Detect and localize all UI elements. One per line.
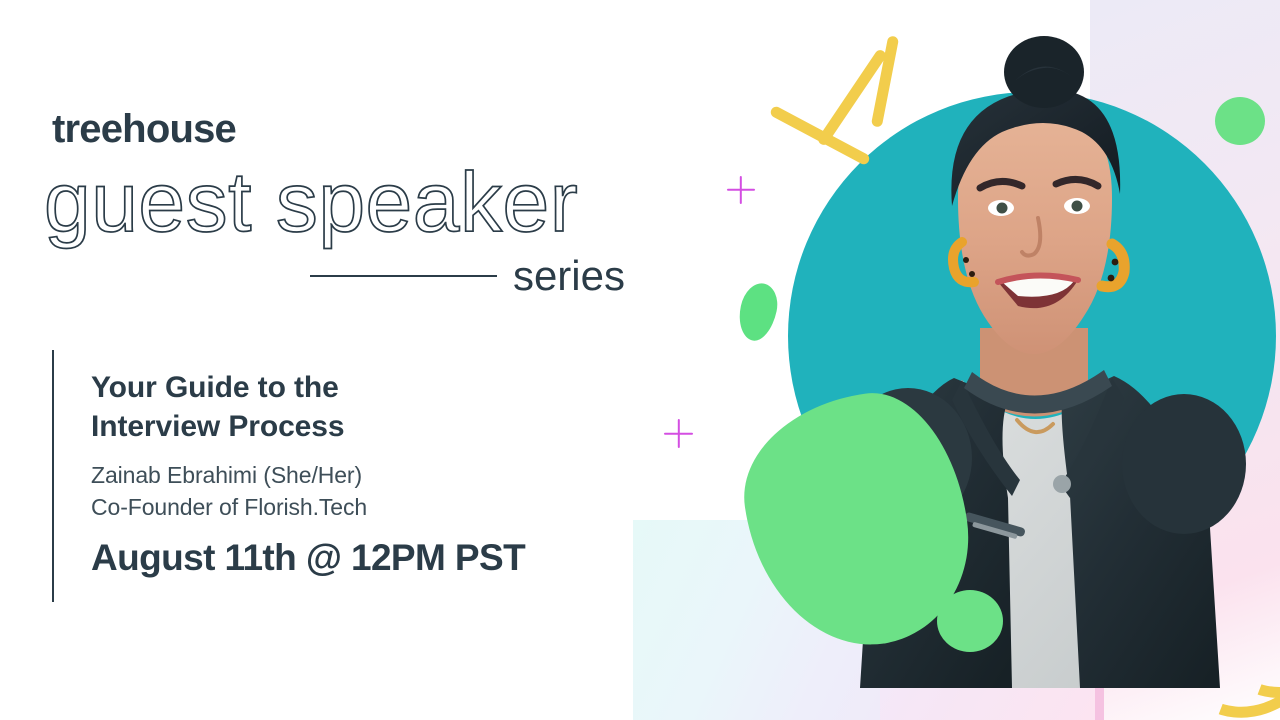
speaker-name: Zainab Ebrahimi (She/Her): [91, 460, 651, 492]
treehouse-wordmark: treehouse: [52, 109, 236, 149]
promo-slide: treehouse guest speaker series Your Guid…: [0, 0, 1280, 720]
green-dot-bottom-shape: [937, 590, 1003, 652]
headline-guest-speaker: guest speaker: [44, 158, 578, 246]
series-row: series: [310, 255, 625, 297]
series-label: series: [513, 255, 625, 297]
event-info-block: Your Guide to the Interview Process Zain…: [91, 368, 651, 579]
plus-mark-icon: [727, 176, 755, 204]
talk-title: Your Guide to the Interview Process: [91, 368, 651, 446]
series-divider-rule: [310, 275, 497, 277]
accent-vertical-bar: [52, 350, 54, 602]
green-bean-small-shape: [734, 280, 781, 344]
plus-mark-icon: [664, 419, 693, 448]
event-datetime: August 11th @ 12PM PST: [91, 537, 651, 578]
speaker-role: Co-Founder of Florish.Tech: [91, 492, 651, 524]
